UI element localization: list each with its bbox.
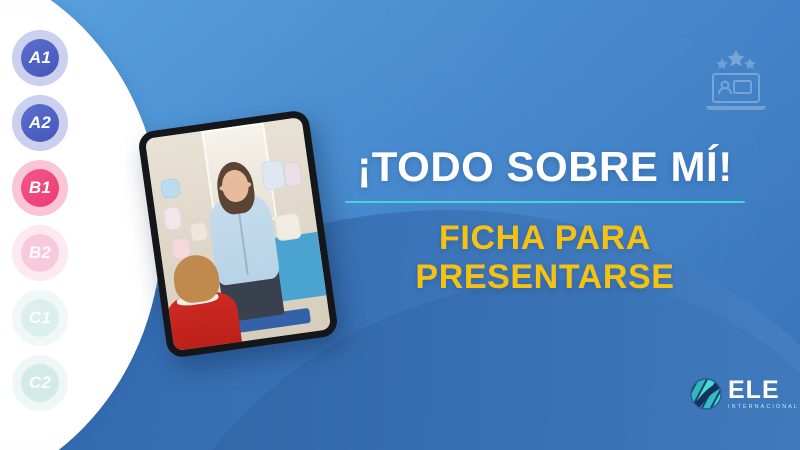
page-subtitle: FICHA PARA PRESENTARSE (330, 219, 760, 297)
photo-wall-decoration (160, 177, 181, 199)
ele-logo-text: ELE INTERNACIONAL (728, 378, 799, 410)
page-subtitle-line-2: PRESENTARSE (330, 258, 760, 297)
tablet-screen-photo (145, 117, 331, 351)
level-badge-column: A1 A2 B1 B2 C1 C2 (0, 0, 90, 450)
photo-wall-decoration (189, 221, 209, 242)
ele-logo-tagline: INTERNACIONAL (728, 405, 799, 410)
level-badge-c2[interactable]: C2 (12, 355, 68, 411)
headline-block: ¡TODO SOBRE MÍ! FICHA PARA PRESENTARSE (330, 146, 760, 297)
page-subtitle-line-1: FICHA PARA (330, 219, 760, 258)
level-badge-b2[interactable]: B2 (12, 225, 68, 281)
photo-wall-decoration (282, 161, 303, 189)
photo-wall-decoration (260, 159, 286, 192)
globe-icon (690, 378, 722, 410)
slide-canvas: A1 A2 B1 B2 C1 C2 (0, 0, 800, 450)
level-badge-a2-label: A2 (21, 104, 59, 142)
ele-logo-name: ELE (728, 378, 799, 403)
ele-logo: ELE INTERNACIONAL (690, 378, 799, 410)
level-badge-c1-label: C1 (21, 299, 59, 337)
title-divider (345, 201, 745, 203)
level-badge-a1[interactable]: A1 (12, 30, 68, 86)
level-badge-b1-label: B1 (21, 169, 59, 207)
level-badge-c1[interactable]: C1 (12, 290, 68, 346)
level-badge-a2[interactable]: A2 (12, 95, 68, 151)
level-badge-b2-label: B2 (21, 234, 59, 272)
photo-wall-decoration (274, 212, 303, 241)
page-title: ¡TODO SOBRE MÍ! (330, 146, 760, 188)
tablet-device (137, 109, 339, 359)
level-badge-a1-label: A1 (21, 39, 59, 77)
level-badge-b1[interactable]: B1 (12, 160, 68, 216)
photo-wall-decoration (163, 205, 183, 231)
laptop-presentation-stars-icon (700, 44, 772, 112)
level-badge-c2-label: C2 (21, 364, 59, 402)
